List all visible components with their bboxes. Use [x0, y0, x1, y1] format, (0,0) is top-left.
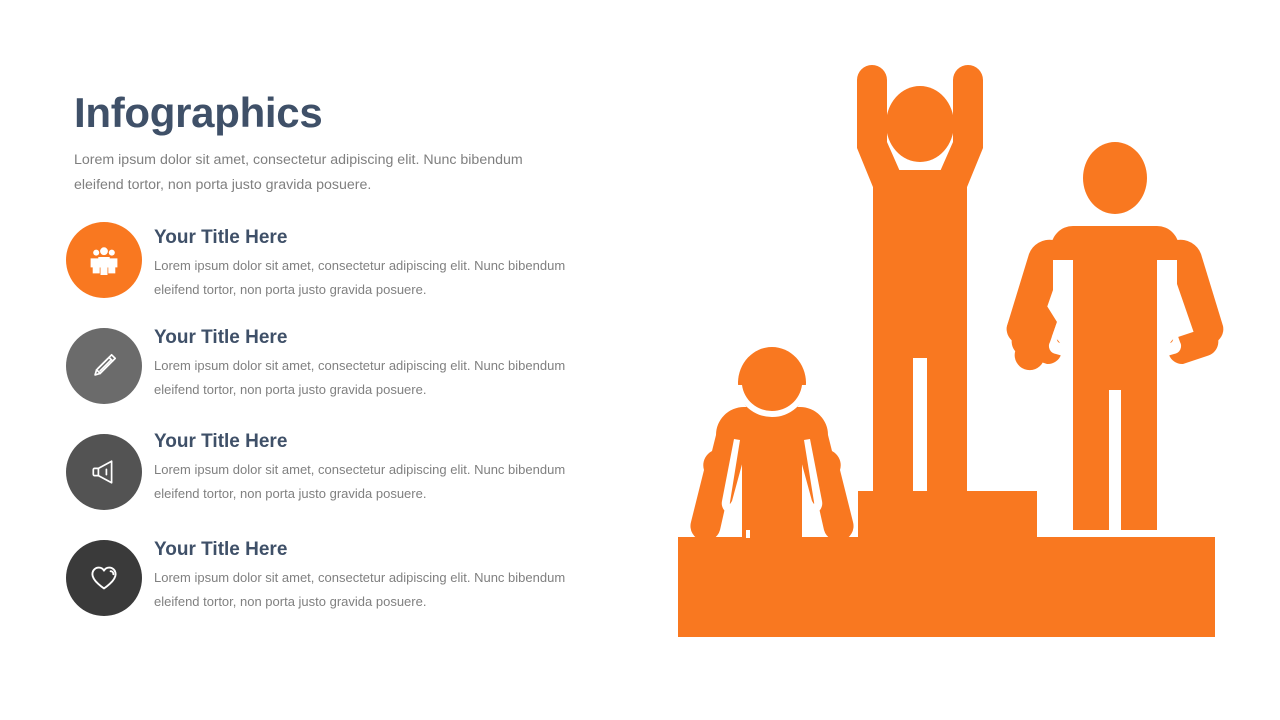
item-description: Lorem ipsum dolor sit amet, consectetur … — [154, 354, 574, 402]
item-description: Lorem ipsum dolor sit amet, consectetur … — [154, 566, 574, 614]
item-text-block: Your Title Here Lorem ipsum dolor sit am… — [154, 226, 574, 302]
item-icon-badge-users[interactable] — [66, 222, 142, 298]
slide-root: Infographics Lorem ipsum dolor sit amet,… — [0, 0, 1280, 720]
item-description: Lorem ipsum dolor sit amet, consectetur … — [154, 254, 574, 302]
item-icon-badge-heart[interactable] — [66, 540, 142, 616]
item-title: Your Title Here — [154, 226, 574, 251]
item-title: Your Title Here — [154, 326, 574, 351]
header-block: Infographics Lorem ipsum dolor sit amet,… — [74, 92, 584, 198]
list-item[interactable]: Your Title Here Lorem ipsum dolor sit am… — [66, 534, 586, 638]
second-place-figure — [1007, 142, 1224, 530]
item-title: Your Title Here — [154, 430, 574, 455]
item-description: Lorem ipsum dolor sit amet, consectetur … — [154, 458, 574, 506]
list-item[interactable]: Your Title Here Lorem ipsum dolor sit am… — [66, 326, 586, 430]
list-item[interactable]: Your Title Here Lorem ipsum dolor sit am… — [66, 222, 586, 326]
item-text-block: Your Title Here Lorem ipsum dolor sit am… — [154, 430, 574, 506]
winners-podium-illustration — [660, 40, 1240, 660]
page-title: Infographics — [74, 92, 584, 134]
pencil-icon — [87, 349, 121, 383]
list-item[interactable]: Your Title Here Lorem ipsum dolor sit am… — [66, 430, 586, 534]
page-subtitle: Lorem ipsum dolor sit amet, consectetur … — [74, 148, 564, 198]
item-text-block: Your Title Here Lorem ipsum dolor sit am… — [154, 326, 574, 402]
feature-list: Your Title Here Lorem ipsum dolor sit am… — [66, 222, 586, 638]
item-text-block: Your Title Here Lorem ipsum dolor sit am… — [154, 538, 574, 614]
users-icon — [87, 243, 121, 277]
item-icon-badge-megaphone[interactable] — [66, 434, 142, 510]
podium-svg — [660, 40, 1240, 660]
first-place-figure — [857, 65, 983, 502]
item-icon-badge-pencil[interactable] — [66, 328, 142, 404]
megaphone-icon — [87, 455, 121, 489]
item-title: Your Title Here — [154, 538, 574, 563]
heart-icon — [87, 561, 121, 595]
